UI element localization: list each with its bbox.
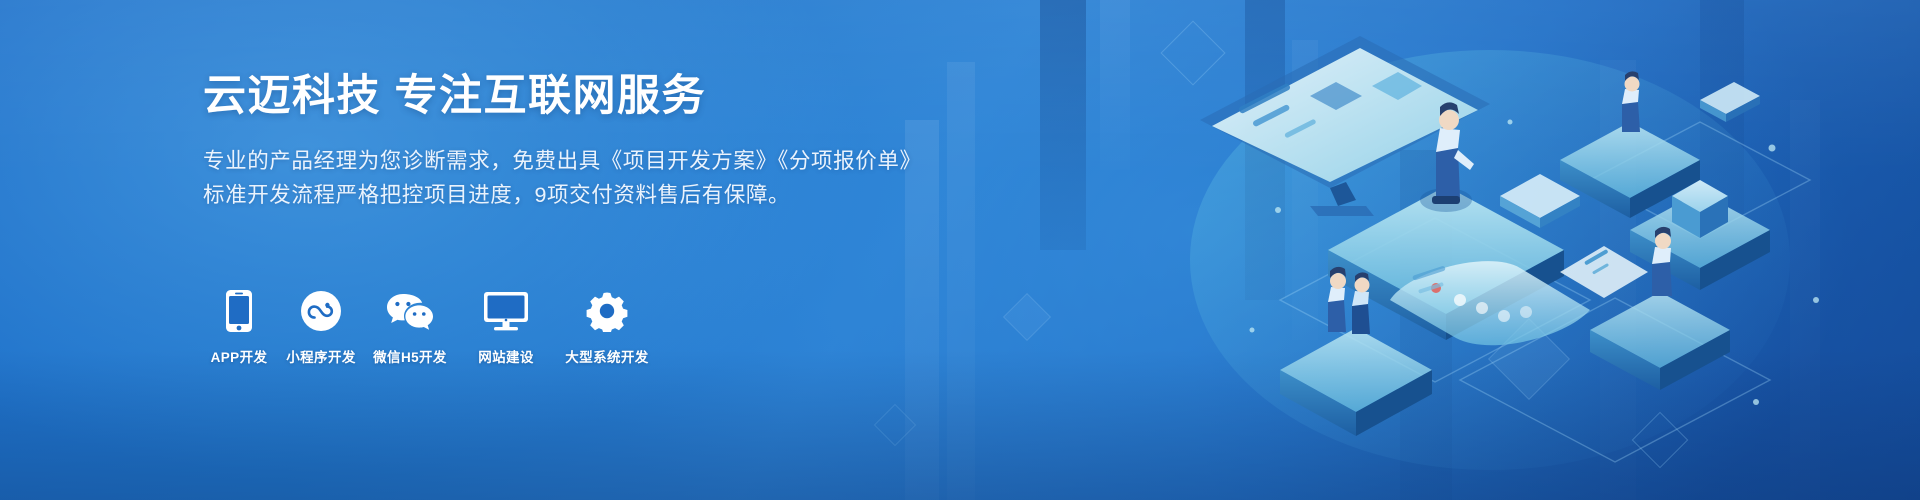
wechat-icon [367,288,453,334]
gear-icon [559,288,655,334]
illo-person-lower-right [1652,227,1672,296]
bg-diamond-4 [1003,293,1051,341]
service-item-wechat[interactable]: 微信H5开发 [367,288,453,366]
monitor-icon [463,288,549,334]
banner-headline: 云迈科技 专注互联网服务 [203,72,903,122]
service-label-system: 大型系统开发 [559,346,655,366]
bg-bar-4 [1100,0,1130,170]
service-item-system[interactable]: 大型系统开发 [559,288,655,366]
service-item-website[interactable]: 网站建设 [463,288,549,366]
illo-floating-tablet [1700,82,1760,122]
service-icon-row: APP开发 小程序开发 [203,288,665,366]
service-item-app[interactable]: APP开发 [203,288,275,366]
isometric-illustration [1160,0,1920,500]
banner-text-block: 云迈科技 专注互联网服务 专业的产品经理为您诊断需求，免费出具《项目开发方案》《… [203,72,903,212]
banner-subtitle: 专业的产品经理为您诊断需求，免费出具《项目开发方案》《分项报价单》 标准开发流程… [203,144,903,212]
service-label-miniprogram: 小程序开发 [285,346,357,366]
mobile-phone-icon [203,288,275,334]
service-label-wechat: 微信H5开发 [367,346,453,366]
service-label-website: 网站建设 [463,346,549,366]
mini-program-icon [285,288,357,334]
subtitle-line-2: 标准开发流程严格把控项目进度，9项交付资料售后有保障。 [203,178,903,212]
service-item-miniprogram[interactable]: 小程序开发 [285,288,357,366]
bg-bar-3 [1040,0,1086,250]
service-label-app: APP开发 [203,346,275,366]
subtitle-line-1: 专业的产品经理为您诊断需求，免费出具《项目开发方案》《分项报价单》 [203,144,903,178]
hero-banner: 云迈科技 专注互联网服务 专业的产品经理为您诊断需求，免费出具《项目开发方案》《… [0,0,1920,500]
bg-bar-2 [947,62,975,500]
bg-bar-1 [905,120,939,500]
